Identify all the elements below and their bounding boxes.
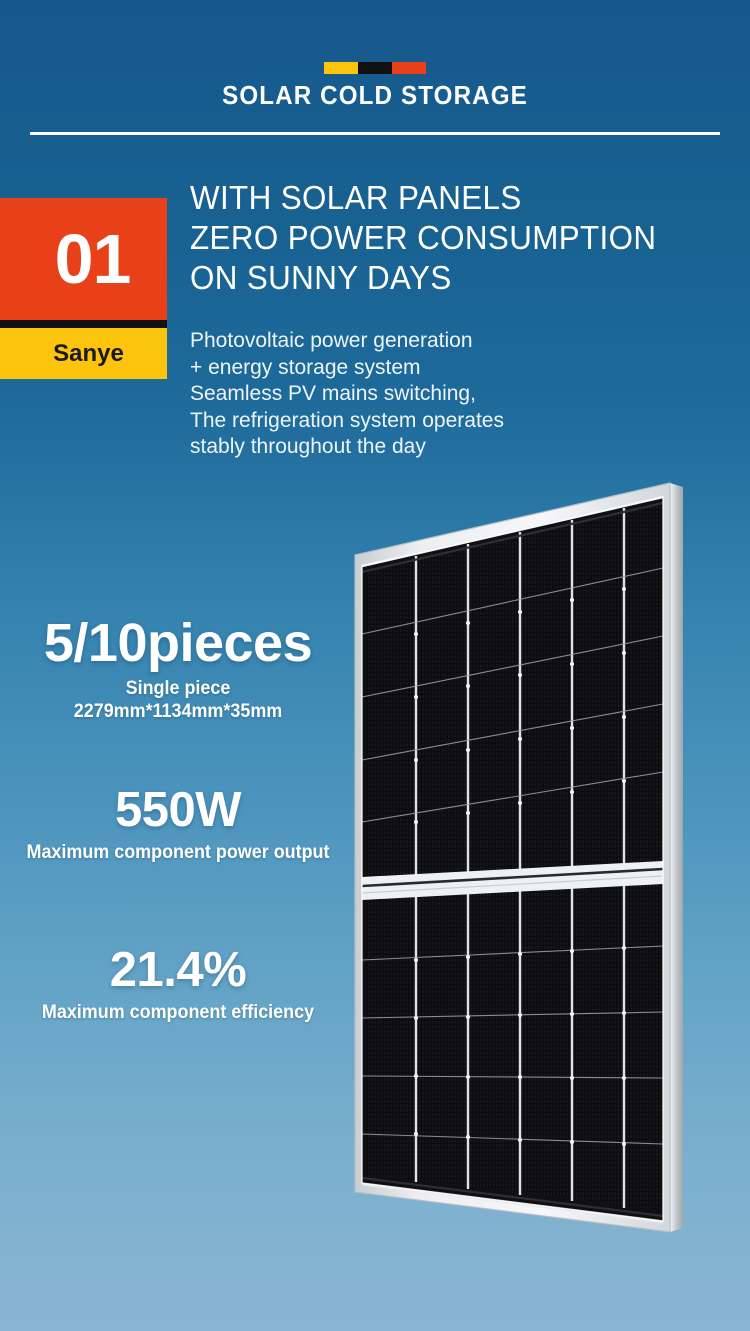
feature-description: Photovoltaic power generation + energy s… <box>190 328 504 461</box>
feature-badge: 01 Sanye <box>0 198 167 379</box>
flag-segment-red <box>392 62 426 74</box>
stat-pieces-label: Single piece 2279mm*1134mm*35mm <box>22 677 335 723</box>
cell-half-upper <box>366 502 660 882</box>
cell-half-lower <box>366 879 660 1210</box>
stat-efficiency-value: 21.4% <box>8 942 348 998</box>
badge-brand-name: Sanye <box>0 328 167 379</box>
cell-column-gaps <box>416 508 624 1208</box>
solder-dots <box>414 587 626 1146</box>
center-busbar <box>362 861 663 900</box>
panel-side-edge <box>670 483 683 1232</box>
stat-pieces: 5/10pieces Single piece 2279mm*1134mm*35… <box>8 612 348 723</box>
stat-pieces-value: 5/10pieces <box>8 612 348 674</box>
panel-laminate <box>362 497 663 1221</box>
title-divider <box>30 132 720 135</box>
frame-outer-outline <box>355 483 670 1232</box>
stat-power: 550W Maximum component power output <box>8 782 348 864</box>
flag-accent-bar <box>324 62 426 74</box>
panel-frame <box>355 483 670 1232</box>
bottom-ribbons <box>362 1178 663 1222</box>
panel-cell-matrix <box>362 497 663 1222</box>
frame-inner-highlight <box>362 497 663 1221</box>
page-title: SOLAR COLD STORAGE <box>26 80 724 111</box>
feature-headline: WITH SOLAR PANELS ZERO POWER CONSUMPTION… <box>190 178 656 298</box>
flag-segment-yellow <box>324 62 358 74</box>
stat-power-value: 550W <box>8 782 348 838</box>
top-ribbons <box>362 497 663 572</box>
stat-efficiency-label: Maximum component efficiency <box>22 1001 335 1024</box>
solar-cold-storage-poster: SOLAR COLD STORAGE 01 Sanye WITH SOLAR P… <box>0 0 750 1331</box>
cell-row-lines-upper <box>362 568 663 822</box>
stat-power-label: Maximum component power output <box>22 841 335 864</box>
flag-segment-black <box>358 62 392 74</box>
badge-separator <box>0 320 167 328</box>
stat-efficiency: 21.4% Maximum component efficiency <box>8 942 348 1024</box>
badge-number: 01 <box>0 198 167 320</box>
cell-row-lines-lower <box>362 946 663 1144</box>
